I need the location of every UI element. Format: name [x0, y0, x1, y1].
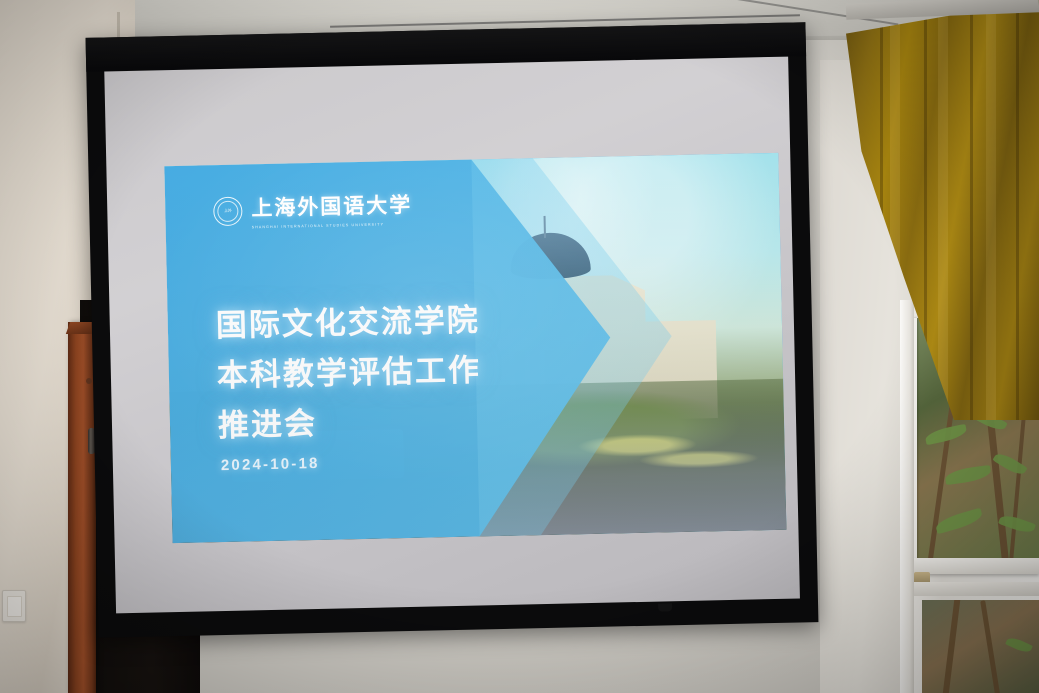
- screen-bottom-weight: [658, 603, 672, 611]
- slide-title-line-2: 本科教学评估工作: [216, 345, 481, 401]
- window-glass-lower: [922, 600, 1039, 693]
- slide-date: 2024-10-18: [221, 455, 320, 474]
- window-post: [900, 300, 914, 693]
- presentation-slide: 上外 上海外国语大学 SHANGHAI INTERNATIONAL STUDIE…: [164, 153, 786, 543]
- slide-title-line-3: 推进会: [217, 395, 482, 451]
- projection-screen[interactable]: 上外 上海外国语大学 SHANGHAI INTERNATIONAL STUDIE…: [86, 22, 819, 638]
- room-scene: 上外 上海外国语大学 SHANGHAI INTERNATIONAL STUDIE…: [0, 0, 1039, 693]
- slide-title-line-1: 国际文化交流学院: [215, 295, 480, 351]
- window-lower-rail: [912, 582, 1039, 596]
- university-seal-icon: 上外: [213, 197, 243, 227]
- light-switch[interactable]: [2, 590, 26, 622]
- screen-surface: 上外 上海外国语大学 SHANGHAI INTERNATIONAL STUDIE…: [104, 57, 800, 614]
- university-name-cn: 上海外国语大学: [251, 189, 413, 223]
- wooden-door[interactable]: [68, 322, 96, 693]
- university-logo: 上外 上海外国语大学 SHANGHAI INTERNATIONAL STUDIE…: [213, 189, 413, 230]
- slide-title: 国际文化交流学院 本科教学评估工作 推进会: [215, 295, 482, 451]
- seal-inner-text: 上外: [217, 201, 238, 222]
- door-knob[interactable]: [86, 378, 92, 384]
